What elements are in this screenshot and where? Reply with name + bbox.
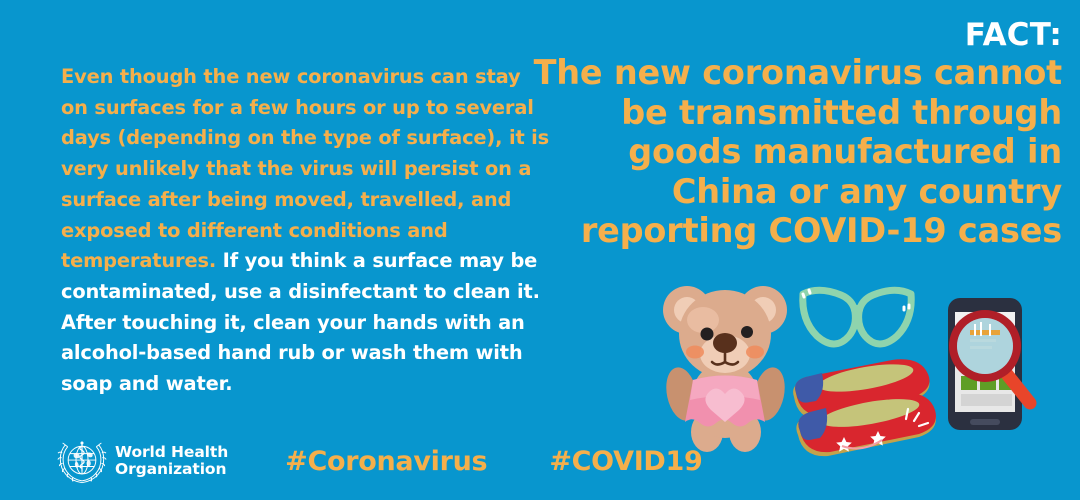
teddy-bear-icon	[655, 272, 795, 452]
footer: World Health Organization #Coronavirus #…	[56, 432, 703, 490]
illustration-group	[645, 262, 1065, 477]
hashtag-coronavirus: #Coronavirus	[285, 446, 487, 477]
headline-line-3: goods manufactured in	[452, 132, 1062, 172]
who-wordmark-line-1: World Health	[115, 444, 228, 461]
headline-text: The new coronavirus cannot be transmitte…	[452, 53, 1062, 251]
who-wordmark: World Health Organization	[115, 444, 228, 478]
ballet-shoes-icon	[788, 357, 938, 462]
who-wordmark-line-2: Organization	[115, 461, 228, 478]
headline-block: FACT: The new coronavirus cannot be tran…	[452, 18, 1062, 251]
headline-line-1: The new coronavirus cannot	[452, 53, 1062, 93]
eyeglasses-icon	[797, 280, 917, 365]
headline-line-5: reporting COVID-19 cases	[452, 211, 1062, 251]
fact-label: FACT:	[452, 18, 1062, 52]
who-logo: World Health Organization	[56, 437, 228, 485]
who-covid19-fact-poster: Even though the new coronavirus can stay…	[0, 0, 1080, 500]
headline-line-4: China or any country	[452, 172, 1062, 212]
smartphone-icon	[928, 294, 1048, 444]
hashtag-covid19: #COVID19	[549, 446, 702, 477]
who-emblem-icon	[56, 437, 108, 485]
headline-line-2: be transmitted through	[452, 93, 1062, 133]
